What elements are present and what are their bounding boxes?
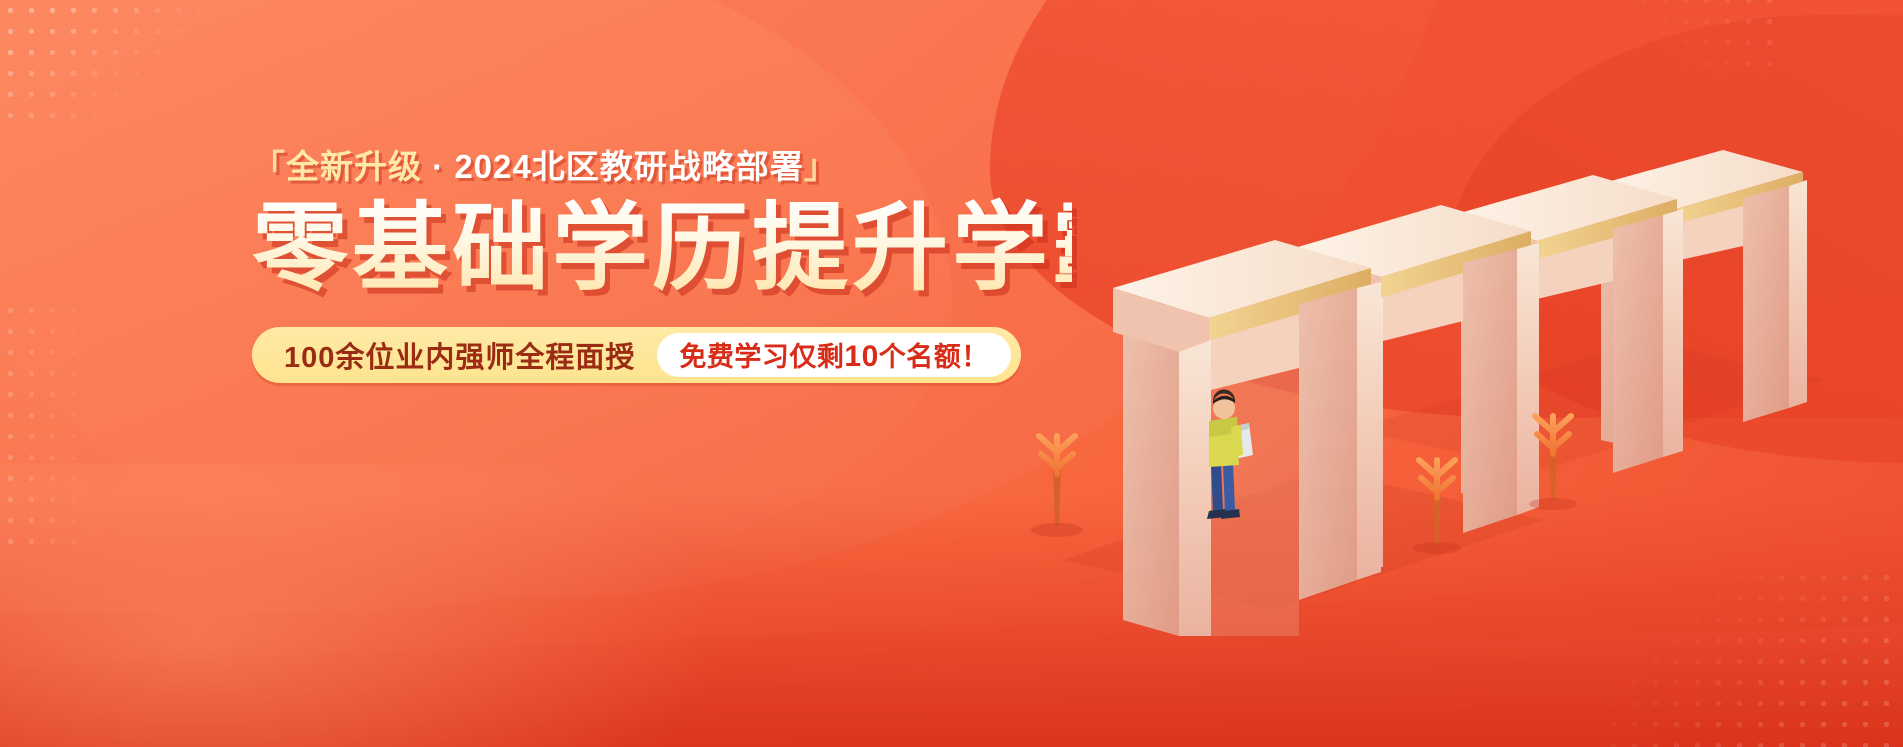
availability-badge-text: 免费学习仅剩10个名额！ [679,335,988,374]
subtitle-highlight: 全新升级 [286,148,422,185]
badge-suffix: 个名额！ [879,342,989,372]
banner-pill-row: 100余位业内强师全程面授 免费学习仅剩10个名额！ [252,327,1072,383]
feature-pill[interactable]: 100余位业内强师全程面授 免费学习仅剩10个名额！ [252,327,1021,383]
banner-subtitle: 「全新升级 · 2024北区教研战略部署」 [252,150,1072,183]
dot-pattern-top-left-icon [0,0,205,120]
badge-number: 10 [844,340,878,373]
dot-pattern-bottom-right-icon [1603,567,1903,747]
promo-banner: 「全新升级 · 2024北区教研战略部署」 零基础学历提升学霸班 100余位业内… [0,0,1903,747]
dot-pattern-left-icon [0,300,120,560]
banner-title: 零基础学历提升学霸班 [252,197,1072,301]
badge-prefix: 免费学习仅剩 [679,342,844,372]
feature-pill-text: 100余位业内强师全程面授 [284,334,657,376]
banner-text-block: 「全新升级 · 2024北区教研战略部署」 零基础学历提升学霸班 100余位业内… [252,150,1072,383]
subtitle-rest: 2024北区教研战略部署 [454,148,803,185]
dot-pattern-top-right-icon [1633,0,1783,80]
subtitle-open-bracket: 「 [252,148,286,185]
subtitle-separator: · [422,148,454,185]
subtitle-close-bracket: 」 [804,148,838,185]
availability-badge[interactable]: 免费学习仅剩10个名额！ [657,333,1010,377]
